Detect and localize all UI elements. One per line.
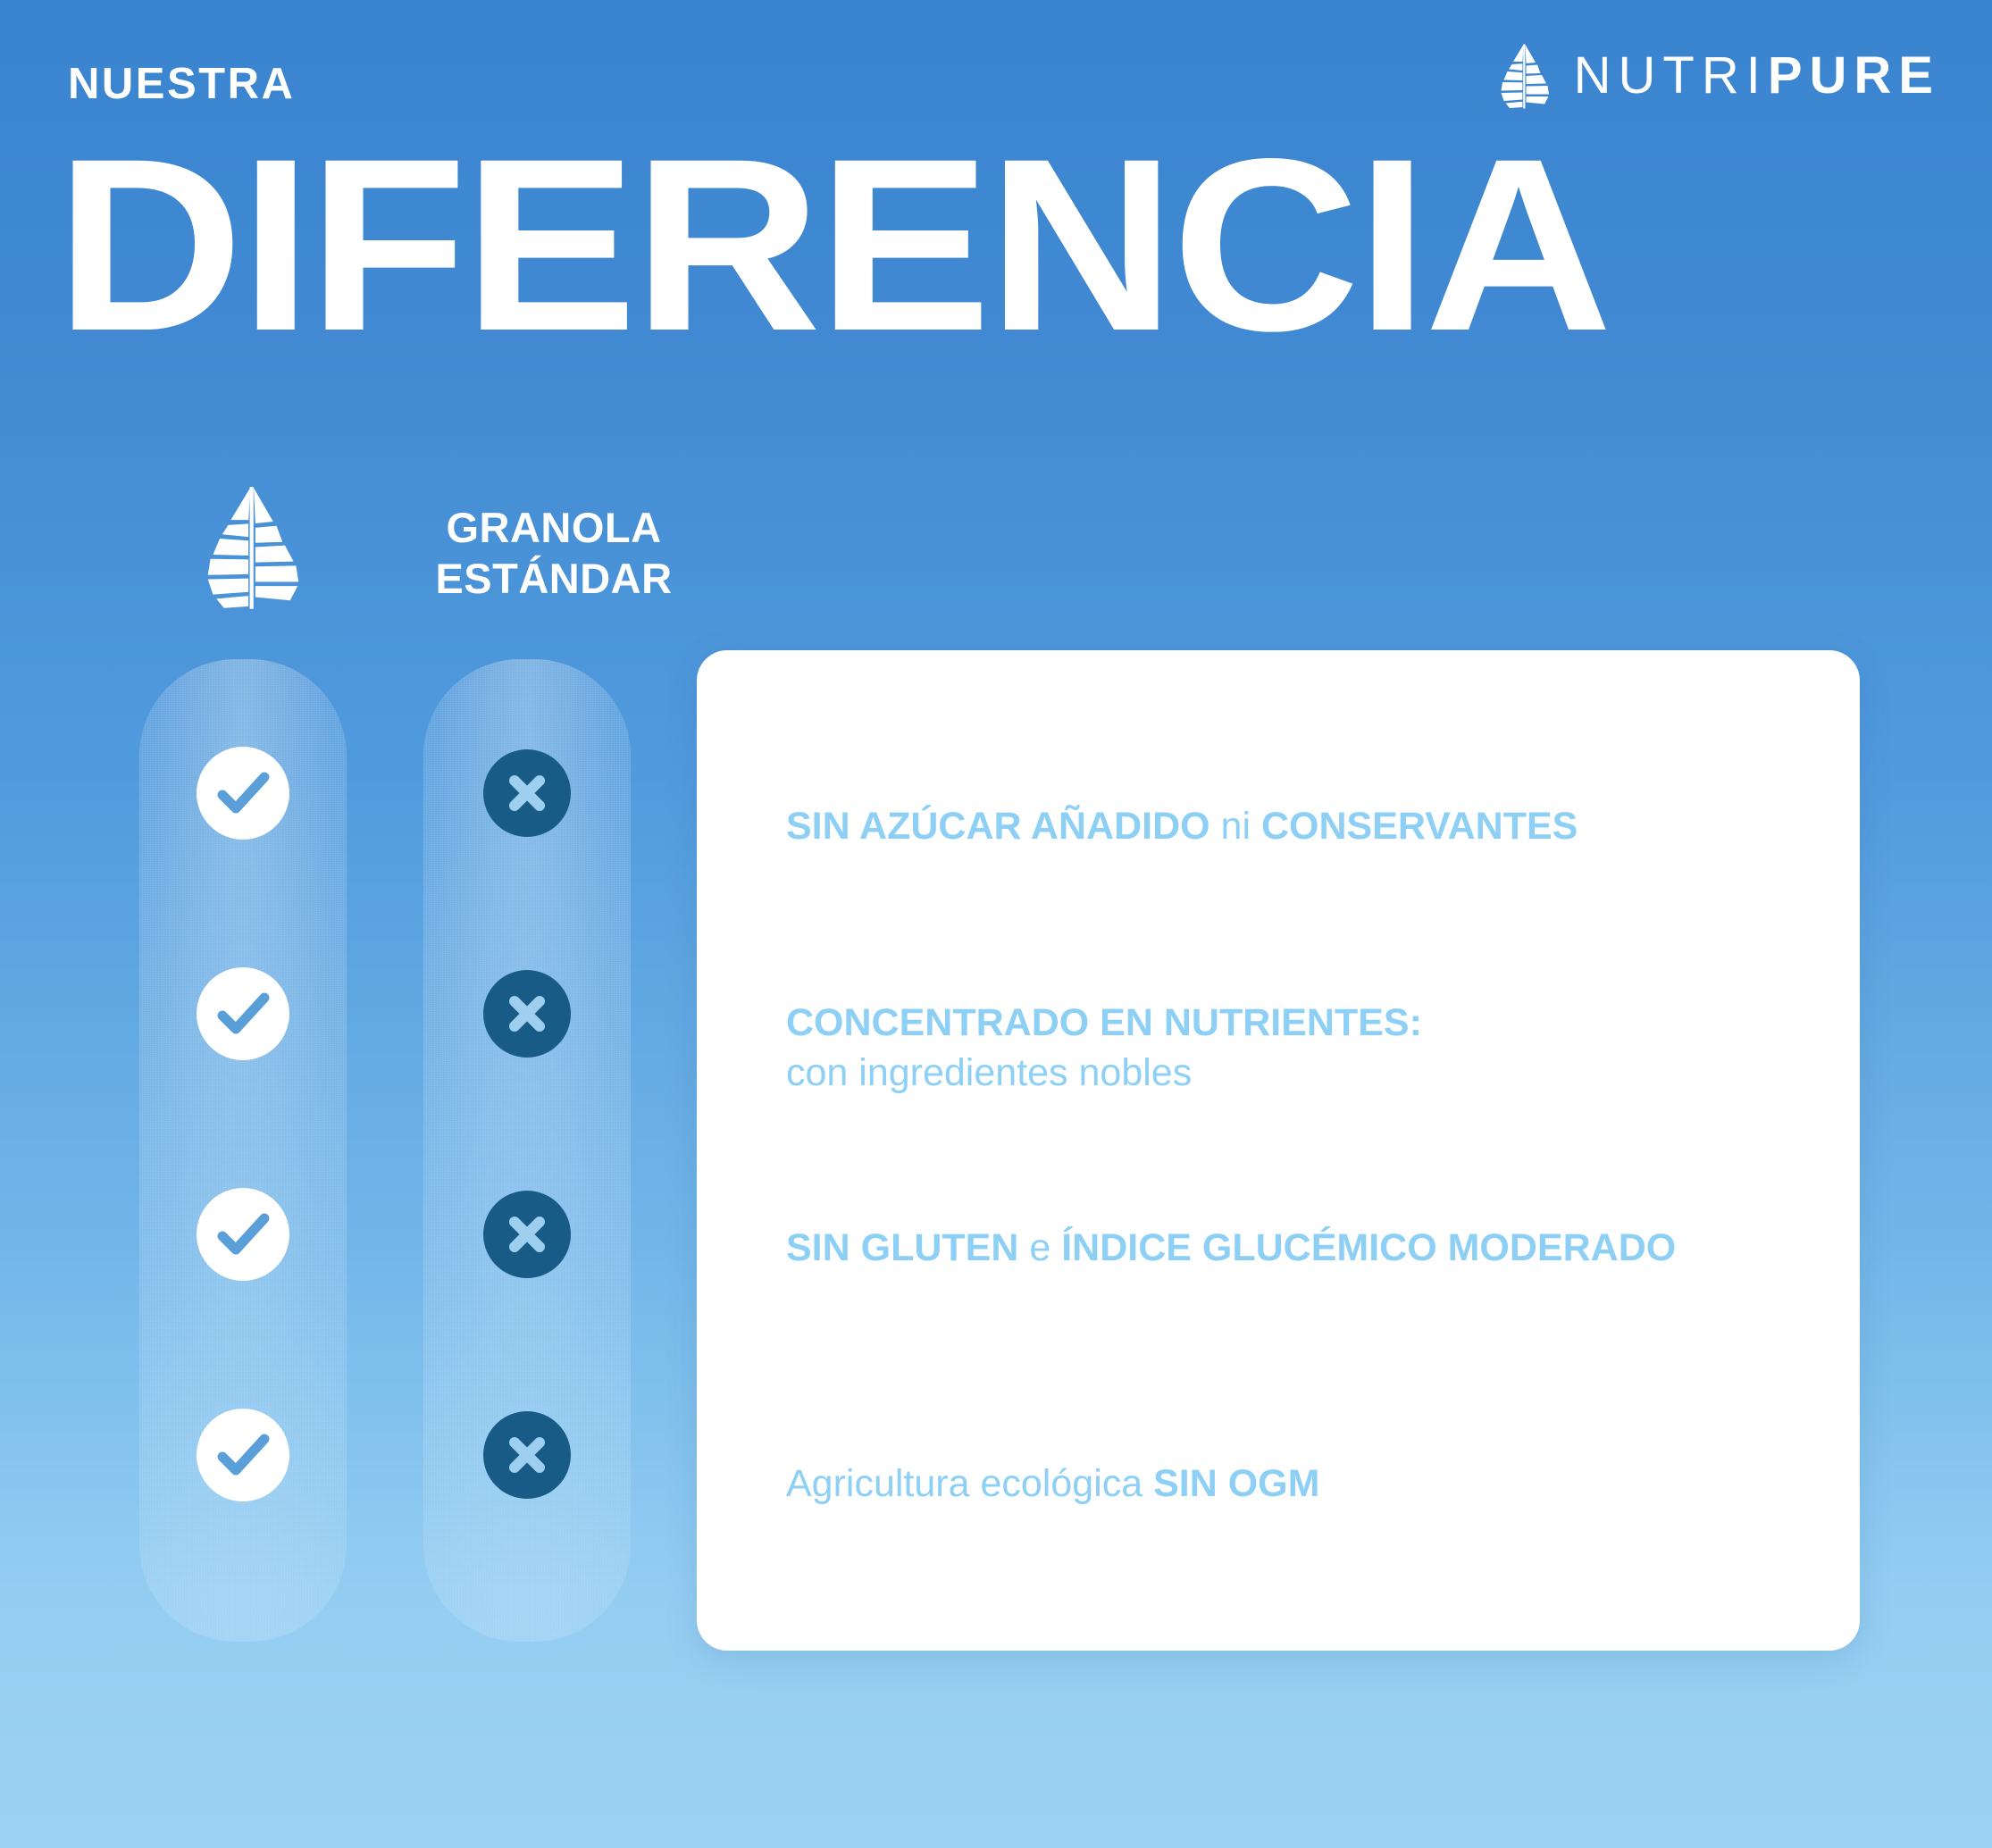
feature-bold-2: ÍNDICE GLUCÉMICO MODERADO — [1061, 1226, 1676, 1269]
eyebrow-label: NUESTRA — [68, 59, 295, 109]
column-header-standard: GRANOLA ESTÁNDAR — [406, 502, 701, 605]
feature-normal-1: e — [1018, 1226, 1061, 1269]
check-icon — [197, 967, 289, 1060]
cross-slot — [423, 1124, 631, 1344]
feature-bold-1: SIN AZÚCAR AÑADIDO — [786, 805, 1210, 848]
brand-wordmark: NUTRIPURE — [1574, 50, 1940, 102]
cross-slot — [423, 682, 631, 903]
page-title: DIFERENCIA — [55, 132, 1609, 358]
check-slot — [139, 1344, 347, 1565]
feature-item: Agricultura ecológica SIN OGM — [786, 1459, 1795, 1509]
leaf-icon — [1499, 43, 1551, 109]
feature-normal-1: ni — [1210, 805, 1261, 848]
comparison-column-ours — [139, 659, 347, 1642]
feature-item: CONCENTRADO EN NUTRIENTES: con ingredien… — [786, 999, 1795, 1099]
check-slot — [139, 903, 347, 1124]
page-header: NUESTRA DIFERENCIA — [0, 0, 1992, 447]
feature-subtext: con ingredientes nobles — [786, 1049, 1795, 1099]
cross-icon — [483, 1191, 571, 1278]
check-icon — [197, 1409, 289, 1501]
feature-card: SIN AZÚCAR AÑADIDO ni CONSERVANTES CONCE… — [697, 650, 1860, 1651]
check-slot — [139, 1124, 347, 1344]
check-icon — [197, 747, 289, 840]
feature-bold-1: SIN GLUTEN — [786, 1226, 1018, 1269]
column-header-standard-line2: ESTÁNDAR — [406, 553, 701, 604]
cross-slot — [423, 903, 631, 1124]
feature-bold-2: SIN OGM — [1153, 1462, 1319, 1505]
check-slot — [139, 682, 347, 903]
feature-item: SIN AZÚCAR AÑADIDO ni CONSERVANTES — [786, 802, 1795, 852]
column-header-standard-line1: GRANOLA — [406, 502, 701, 553]
cross-slot — [423, 1344, 631, 1565]
cross-icon — [483, 749, 571, 837]
cross-icon — [483, 970, 571, 1058]
brand-name-light: NUTRI — [1574, 46, 1768, 105]
column-header-ours — [204, 482, 302, 612]
feature-item: SIN GLUTEN e ÍNDICE GLUCÉMICO MODERADO — [786, 1224, 1795, 1274]
feature-bold-1: CONCENTRADO EN NUTRIENTES: — [786, 1001, 1422, 1044]
brand-logo: NUTRIPURE — [1499, 43, 1940, 109]
leaf-icon — [204, 482, 302, 612]
feature-normal-1: Agricultura ecológica — [786, 1462, 1153, 1505]
brand-name-bold: PURE — [1768, 46, 1940, 105]
cross-icon — [483, 1411, 571, 1499]
check-icon — [197, 1188, 289, 1281]
feature-bold-2: CONSERVANTES — [1261, 805, 1578, 848]
comparison-column-standard — [423, 659, 631, 1642]
